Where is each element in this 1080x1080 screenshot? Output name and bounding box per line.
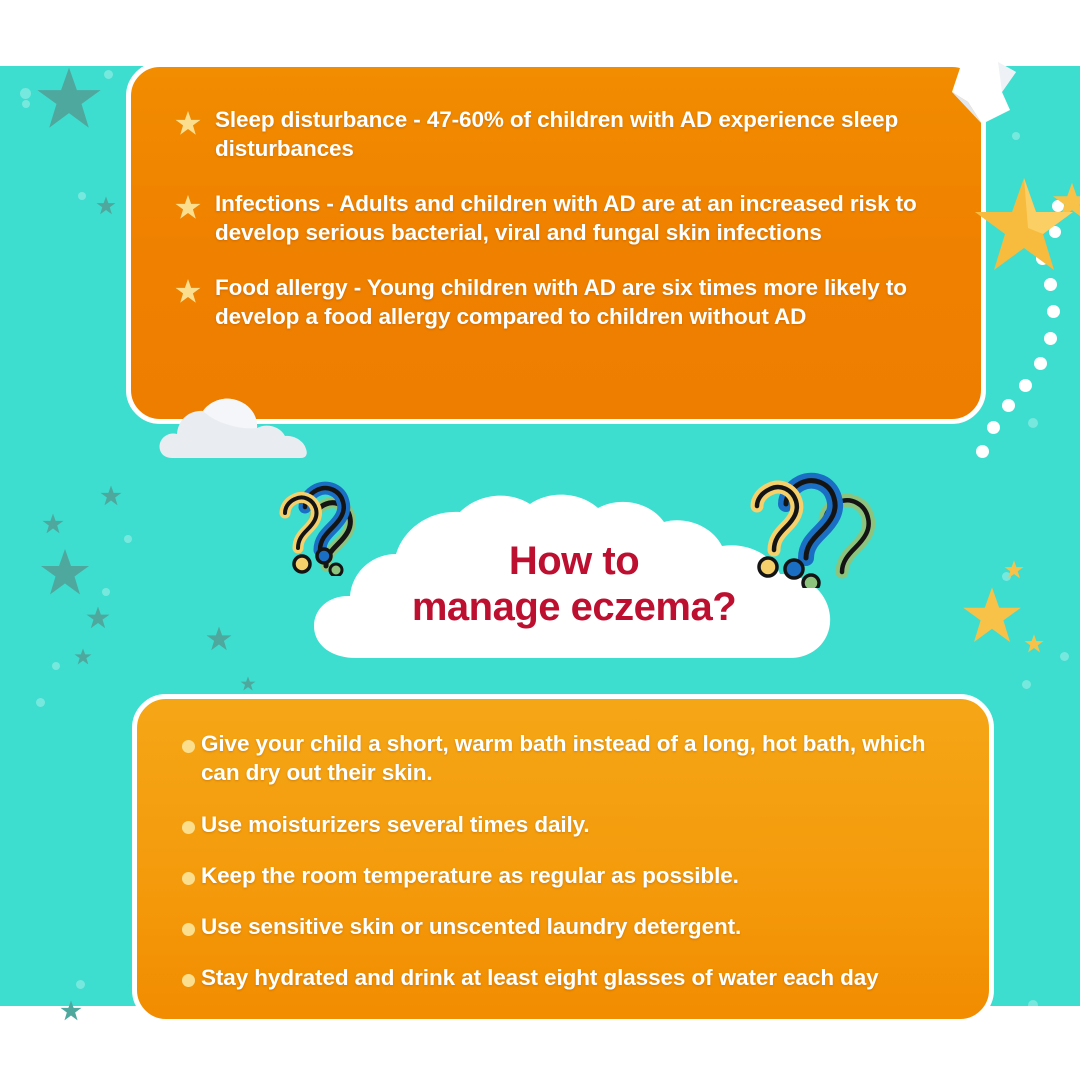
background-star-icon [40, 548, 90, 596]
background-star-icon [74, 648, 92, 665]
dotted-curve-dot [1044, 332, 1057, 345]
background-star-icon [206, 626, 232, 651]
manage-list: Give your child a short, warm bath inste… [137, 699, 989, 993]
background-star-icon [60, 1000, 82, 1021]
list-item-text: Keep the room temperature as regular as … [201, 861, 739, 890]
list-item: Food allergy - Young children with AD ar… [175, 273, 937, 331]
background-star-icon [86, 606, 110, 629]
background-dot [102, 588, 110, 596]
star-bullet-icon [175, 110, 201, 136]
complications-list: Sleep disturbance - 47-60% of children w… [131, 67, 981, 331]
dotted-curve-dot [1044, 278, 1057, 291]
question-marks-cluster-icon [272, 478, 390, 576]
dot-bullet-icon [182, 740, 195, 753]
star-bullet-icon [175, 278, 201, 304]
dot-bullet-icon [182, 872, 195, 885]
list-item-text: Food allergy - Young children with AD ar… [215, 273, 937, 331]
decorative-star-icon [1024, 634, 1044, 653]
dotted-curve-dot [976, 445, 989, 458]
dotted-curve-dot [1047, 305, 1060, 318]
list-item: Sleep disturbance - 47-60% of children w… [175, 105, 937, 163]
list-item: Infections - Adults and children with AD… [175, 189, 937, 247]
list-item-text: Stay hydrated and drink at least eight g… [201, 963, 879, 992]
list-item-text: Sleep disturbance - 47-60% of children w… [215, 105, 937, 163]
background-dot [52, 662, 60, 670]
list-item-text: Use moisturizers several times daily. [201, 810, 590, 839]
star-icon [972, 174, 1076, 274]
background-dot [1060, 652, 1069, 661]
question-marks-cluster-icon [730, 470, 886, 588]
background-dot [78, 192, 86, 200]
list-item-text: Give your child a short, warm bath inste… [201, 729, 945, 788]
background-star-icon [240, 676, 256, 691]
decorative-star-icon [962, 586, 1022, 644]
infographic-page: Sleep disturbance - 47-60% of children w… [0, 0, 1080, 1080]
list-item-text: Infections - Adults and children with AD… [215, 189, 937, 247]
star-bullet-icon [175, 194, 201, 220]
page-title-line-2: manage eczema? [312, 584, 836, 630]
list-item-text: Use sensitive skin or unscented laundry … [201, 912, 741, 941]
background-star-icon [100, 485, 122, 506]
background-dot [1022, 680, 1031, 689]
background-dot [76, 980, 85, 989]
background-dot [22, 100, 30, 108]
cloud-shape [158, 396, 310, 458]
background-star-icon [96, 196, 116, 215]
list-item: Use sensitive skin or unscented laundry … [177, 912, 945, 941]
background-dot [104, 70, 113, 79]
background-dot [124, 535, 132, 543]
list-item: Stay hydrated and drink at least eight g… [177, 963, 945, 992]
paper-fragment-icon [952, 62, 1016, 124]
background-dot [20, 88, 31, 99]
dotted-curve-dot [1034, 357, 1047, 370]
dot-bullet-icon [182, 821, 195, 834]
decorative-star-icon [1004, 560, 1024, 579]
dotted-curve-dot [1002, 399, 1015, 412]
dot-bullet-icon [182, 923, 195, 936]
list-item: Give your child a short, warm bath inste… [177, 729, 945, 788]
complications-card: Sleep disturbance - 47-60% of children w… [126, 62, 986, 424]
background-dot [1012, 132, 1020, 140]
dotted-curve-dot [1019, 379, 1032, 392]
background-dot [36, 698, 45, 707]
list-item: Keep the room temperature as regular as … [177, 861, 945, 890]
manage-card: Give your child a short, warm bath inste… [132, 694, 994, 1024]
background-star-icon [42, 513, 64, 534]
background-dot [1028, 418, 1038, 428]
list-item: Use moisturizers several times daily. [177, 810, 945, 839]
dotted-curve-dot [987, 421, 1000, 434]
background-dot [1028, 1000, 1038, 1010]
background-star-icon [36, 66, 102, 130]
dot-bullet-icon [182, 974, 195, 987]
